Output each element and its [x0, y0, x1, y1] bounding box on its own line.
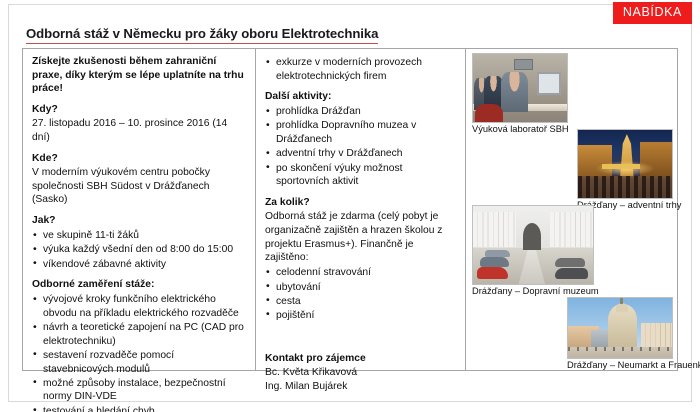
- list-item: pojištění: [265, 309, 457, 323]
- activities-list: prohlídka Drážďan prohlídka Dopravního m…: [265, 105, 457, 189]
- transport-museum-photo: [472, 205, 594, 285]
- list-item: prohlídka Drážďan: [265, 105, 457, 119]
- list-item: ubytování: [265, 281, 457, 295]
- figure-caption: Výuková laboratoř SBH: [472, 124, 569, 136]
- list-item: testování a hledání chyb: [32, 405, 247, 412]
- figure-caption: Drážďany – Neumarkt a Frauenkirche: [567, 360, 700, 372]
- list-item: adventní trhy v Drážďanech: [265, 147, 457, 161]
- list-item: sestavení rozvaděče pomocí stavebnicovýc…: [32, 349, 247, 376]
- content-table: Získejte zkušenosti během zahraniční pra…: [22, 48, 678, 371]
- list-item: výuka každý všední den od 8:00 do 15:00: [32, 243, 247, 257]
- offer-badge: NABÍDKA: [613, 2, 692, 24]
- contact-heading: Kontakt pro zájemce: [265, 352, 457, 366]
- figure-caption: Drážďany – Dopravní muzeum: [472, 286, 599, 298]
- how-heading: Jak?: [32, 214, 247, 228]
- price-list: celodenní stravování ubytování cesta poj…: [265, 266, 457, 322]
- lead-paragraph: Získejte zkušenosti během zahraniční pra…: [32, 55, 247, 96]
- activities-heading: Další aktivity:: [265, 90, 457, 104]
- frauenkirche-photo: [567, 297, 673, 359]
- left-column: Získejte zkušenosti během zahraniční pra…: [23, 49, 256, 370]
- list-item: prohlídka Dopravního muzea v Drážďanech: [265, 119, 457, 146]
- lab-photo: [472, 53, 568, 123]
- how-list: ve skupině 11-ti žáků výuka každý všední…: [32, 229, 247, 271]
- where-heading: Kde?: [32, 152, 247, 166]
- when-text: 27. listopadu 2016 – 10. prosince 2016 (…: [32, 117, 247, 145]
- list-item: po skončení výuky možnost sportovních ak…: [265, 162, 457, 189]
- contact-person-2: Ing. Milan Bujárek: [265, 380, 457, 394]
- list-item: možné způsoby instalace, bezpečnostní no…: [32, 377, 247, 404]
- figure-christmas-market: Drážďany – adventní trhy: [577, 129, 681, 212]
- list-item: exkurze v moderních provozech elektrotec…: [265, 56, 457, 83]
- poster-page: NABÍDKA Odborná stáž v Německu pro žáky …: [0, 0, 700, 412]
- where-text: V moderním výukovém centru pobočky spole…: [32, 166, 247, 208]
- list-item: cesta: [265, 295, 457, 309]
- contact-person-1: Bc. Květa Křikavová: [265, 366, 457, 380]
- list-item: víkendové zábavné aktivity: [32, 258, 247, 272]
- christmas-market-photo: [577, 129, 673, 199]
- list-item: návrh a teoretické zapojení na PC (CAD p…: [32, 321, 247, 348]
- middle-column: exkurze v moderních provozech elektrotec…: [256, 49, 466, 370]
- list-item: ve skupině 11-ti žáků: [32, 229, 247, 243]
- list-item: celodenní stravování: [265, 266, 457, 280]
- when-heading: Kdy?: [32, 103, 247, 117]
- figure-transport-museum: Drážďany – Dopravní muzeum: [472, 205, 599, 298]
- figure-lab: Výuková laboratoř SBH: [472, 53, 569, 136]
- price-heading: Za kolik?: [265, 196, 457, 210]
- page-title: Odborná stáž v Německu pro žáky oboru El…: [26, 26, 378, 44]
- price-text: Odborná stáž je zdarma (celý pobyt je or…: [265, 210, 457, 266]
- right-column: Výuková laboratoř SBH Drážďany – adventn…: [466, 49, 677, 370]
- focus-list: vývojové kroky funkčního elektrického ob…: [32, 293, 247, 412]
- list-item: vývojové kroky funkčního elektrického ob…: [32, 293, 247, 320]
- focus-continued-list: exkurze v moderních provozech elektrotec…: [265, 56, 457, 83]
- focus-heading: Odborné zaměření stáže:: [32, 278, 247, 292]
- figure-frauenkirche: Drážďany – Neumarkt a Frauenkirche: [567, 297, 700, 372]
